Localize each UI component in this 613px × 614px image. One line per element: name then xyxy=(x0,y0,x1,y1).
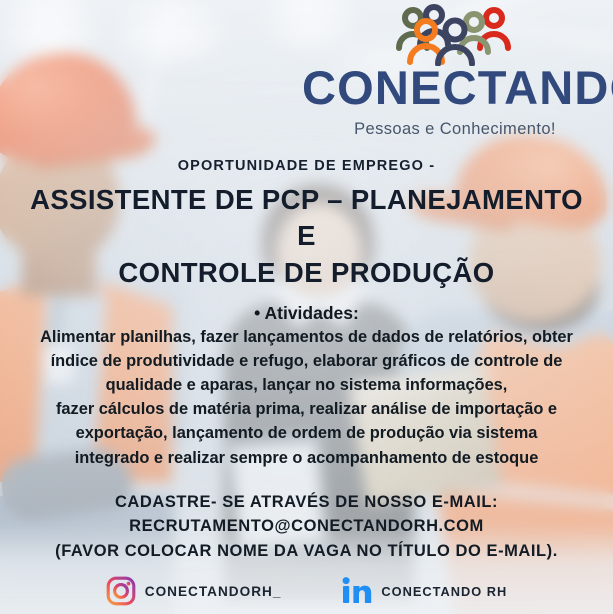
activities-line: índice de produtividade e refugo, elabor… xyxy=(20,349,593,373)
job-title-line-2: CONTROLE DE PRODUÇÃO xyxy=(22,255,591,291)
linkedin-link[interactable]: CONECTANDO RH xyxy=(341,576,507,606)
contact-note: (FAVOR COLOCAR NOME DA VAGA NO TÍTULO DO… xyxy=(0,539,613,563)
brand-name: CONECTANDO xyxy=(302,64,608,111)
activities-line: Alimentar planilhas, fazer lançamentos d… xyxy=(20,325,593,349)
people-group-icon xyxy=(393,4,517,66)
contact-email[interactable]: RECRUTAMENTO@CONECTANDORH.COM xyxy=(0,514,613,538)
contact-call-to-action: CADASTRE- SE ATRAVÉS DE NOSSO E-MAIL: xyxy=(0,490,613,514)
job-title: ASSISTENTE DE PCP – PLANEJAMENTO E CONTR… xyxy=(0,182,613,291)
activities-line: exportação, lançamento de ordem de produ… xyxy=(20,421,593,445)
instagram-handle: CONECTANDORH_ xyxy=(145,584,282,599)
job-title-line-1: ASSISTENTE DE PCP – PLANEJAMENTO E xyxy=(22,182,591,255)
activities-heading: • Atividades: xyxy=(0,303,613,324)
contact-block: CADASTRE- SE ATRAVÉS DE NOSSO E-MAIL: RE… xyxy=(0,490,613,563)
instagram-icon xyxy=(106,576,136,606)
brand-tagline: Pessoas e Conhecimento! xyxy=(302,120,608,139)
instagram-link[interactable]: CONECTANDORH_ xyxy=(106,576,282,606)
social-footer: CONECTANDORH_ CONECTANDO RH xyxy=(0,576,613,606)
activities-line: fazer cálculos de matéria prima, realiza… xyxy=(20,397,593,421)
job-posting-image: CONECTANDO Pessoas e Conhecimento! OPORT… xyxy=(0,0,613,614)
activities-line: integrado e realizar sempre o acompanham… xyxy=(20,446,593,470)
poster-content: CONECTANDO Pessoas e Conhecimento! OPORT… xyxy=(0,0,613,614)
activities-list: Alimentar planilhas, fazer lançamentos d… xyxy=(0,325,613,470)
brand-logo: CONECTANDO Pessoas e Conhecimento! xyxy=(302,4,608,139)
linkedin-icon xyxy=(341,576,372,606)
activities-line: qualidade e aparas, lançar no sistema in… xyxy=(20,373,593,397)
opportunity-kicker: OPORTUNIDADE DE EMPREGO - xyxy=(0,158,613,174)
linkedin-handle: CONECTANDO RH xyxy=(381,584,507,599)
